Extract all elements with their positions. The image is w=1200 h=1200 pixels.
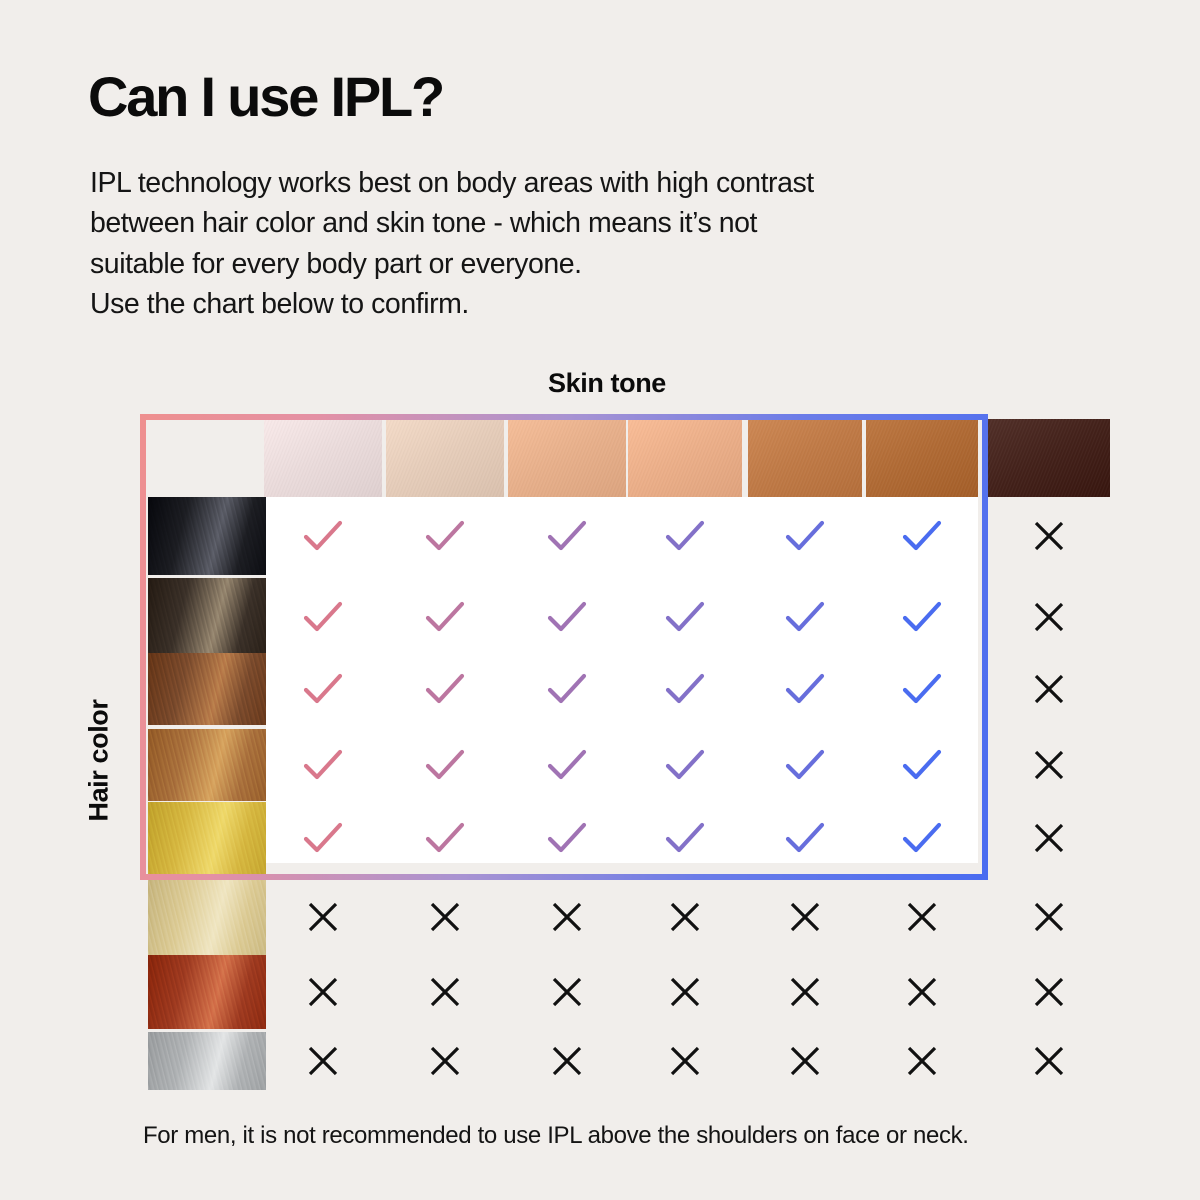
ipl-suitability-infographic: Can I use IPL? IPL technology works best…: [0, 0, 1200, 1200]
footer-note: For men, it is not recommended to use IP…: [143, 1122, 969, 1150]
hair-color-swatch: [148, 578, 266, 656]
check-icon: [658, 662, 712, 716]
skin-texture-overlay: [264, 419, 382, 497]
check-icon: [296, 509, 350, 563]
hair-strand-texture: [148, 578, 266, 656]
cross-icon: [296, 890, 350, 944]
cross-icon: [778, 965, 832, 1019]
skin-tone-swatch: [988, 419, 1110, 497]
check-icon: [540, 738, 594, 792]
check-icon: [895, 738, 949, 792]
cross-icon: [895, 1034, 949, 1088]
hair-strand-texture: [148, 1032, 266, 1090]
cross-icon: [1022, 965, 1076, 1019]
hair-strand-texture: [148, 653, 266, 725]
check-icon: [778, 738, 832, 792]
skin-texture-overlay: [508, 419, 626, 497]
cross-icon: [296, 1034, 350, 1088]
hair-color-swatch: [148, 497, 266, 575]
check-icon: [778, 662, 832, 716]
cross-icon: [1022, 738, 1076, 792]
check-icon: [296, 662, 350, 716]
axis-label-hair-color: Hair color: [84, 651, 115, 871]
cross-icon: [658, 890, 712, 944]
hair-color-swatch: [148, 653, 266, 725]
check-icon: [895, 662, 949, 716]
check-icon: [778, 509, 832, 563]
check-icon: [418, 509, 472, 563]
check-icon: [895, 811, 949, 865]
suitability-chart: Skin tone Hair color: [0, 0, 1200, 1200]
hair-strand-texture: [148, 729, 266, 801]
hair-strand-texture: [148, 878, 266, 956]
axis-label-skin-tone: Skin tone: [548, 368, 666, 399]
hair-color-swatch: [148, 1032, 266, 1090]
cross-icon: [1022, 509, 1076, 563]
hair-strand-texture: [148, 802, 266, 874]
cross-icon: [1022, 662, 1076, 716]
check-icon: [658, 590, 712, 644]
hair-strand-texture: [148, 497, 266, 575]
check-icon: [296, 590, 350, 644]
cross-icon: [1022, 1034, 1076, 1088]
skin-tone-swatch: [866, 419, 978, 497]
cross-icon: [1022, 890, 1076, 944]
check-icon: [540, 662, 594, 716]
cross-icon: [296, 965, 350, 1019]
skin-tone-swatch: [264, 419, 382, 497]
cross-icon: [895, 965, 949, 1019]
cross-icon: [540, 890, 594, 944]
check-icon: [540, 811, 594, 865]
skin-tone-header-row: [143, 419, 1111, 497]
check-icon: [418, 590, 472, 644]
skin-tone-swatch: [748, 419, 862, 497]
cross-icon: [540, 965, 594, 1019]
cross-icon: [658, 1034, 712, 1088]
cross-icon: [418, 1034, 472, 1088]
check-icon: [296, 811, 350, 865]
skin-tone-swatch: [508, 419, 626, 497]
check-icon: [658, 509, 712, 563]
skin-tone-swatch: [386, 419, 504, 497]
hair-color-swatch: [148, 729, 266, 801]
cross-icon: [658, 965, 712, 1019]
hair-color-swatch: [148, 955, 266, 1029]
corner-blank-cell: [143, 419, 261, 497]
check-icon: [895, 590, 949, 644]
check-icon: [418, 662, 472, 716]
cross-icon: [895, 890, 949, 944]
skin-texture-overlay: [628, 419, 742, 497]
check-icon: [418, 811, 472, 865]
check-icon: [895, 509, 949, 563]
cross-icon: [778, 890, 832, 944]
hair-strand-texture: [148, 955, 266, 1029]
check-icon: [540, 590, 594, 644]
check-icon: [418, 738, 472, 792]
check-icon: [296, 738, 350, 792]
check-icon: [658, 811, 712, 865]
check-icon: [778, 811, 832, 865]
skin-texture-overlay: [866, 419, 978, 497]
cross-icon: [418, 890, 472, 944]
cross-icon: [540, 1034, 594, 1088]
cross-icon: [1022, 811, 1076, 865]
suitable-region-panel: [266, 497, 978, 863]
hair-color-swatch: [148, 802, 266, 874]
cross-icon: [1022, 590, 1076, 644]
skin-texture-overlay: [988, 419, 1110, 497]
check-icon: [778, 590, 832, 644]
skin-texture-overlay: [748, 419, 862, 497]
check-icon: [540, 509, 594, 563]
skin-texture-overlay: [386, 419, 504, 497]
cross-icon: [418, 965, 472, 1019]
cross-icon: [778, 1034, 832, 1088]
hair-color-swatch: [148, 878, 266, 956]
skin-tone-swatch: [628, 419, 742, 497]
check-icon: [658, 738, 712, 792]
